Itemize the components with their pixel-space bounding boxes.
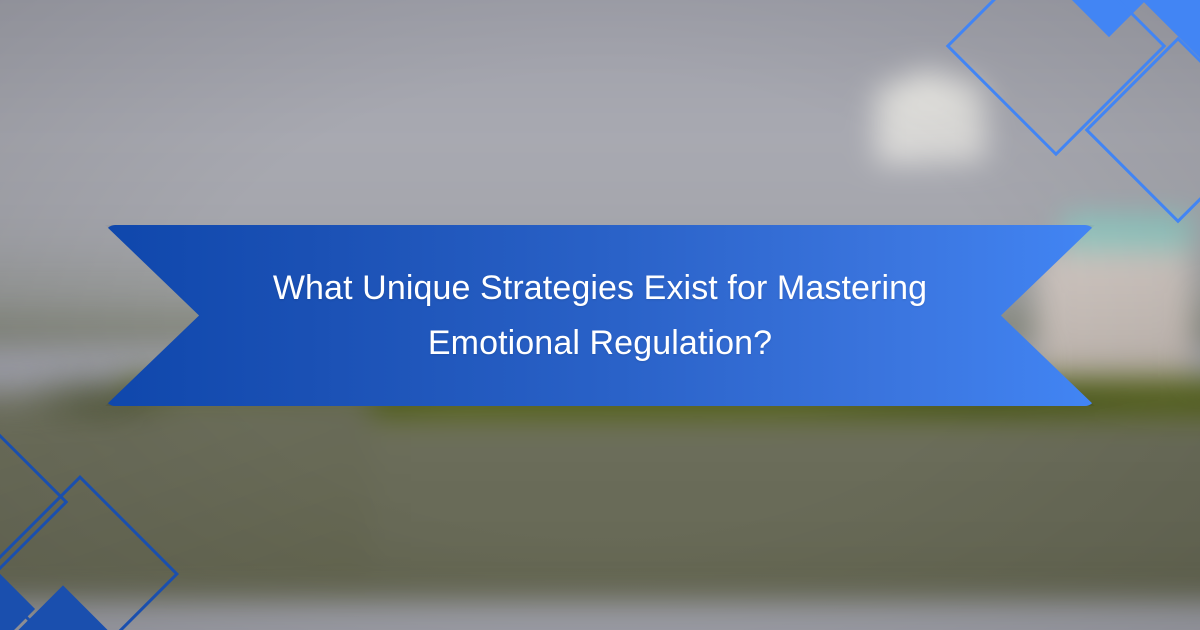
- share-card-canvas: What Unique Strategies Exist for Masteri…: [0, 0, 1200, 630]
- title-ribbon: What Unique Strategies Exist for Masteri…: [105, 225, 1095, 406]
- page-title: What Unique Strategies Exist for Masteri…: [105, 260, 1095, 370]
